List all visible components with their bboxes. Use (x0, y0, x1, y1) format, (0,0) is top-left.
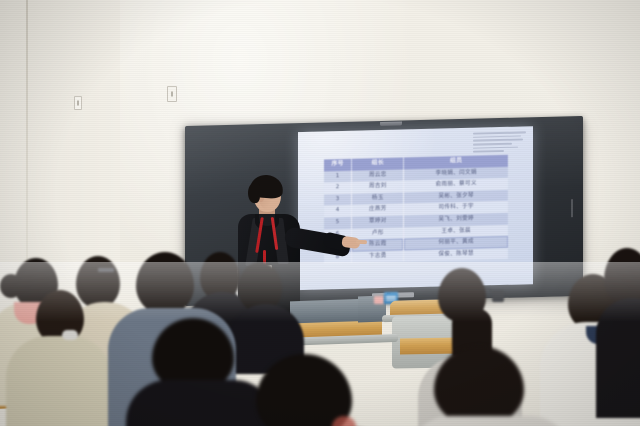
torso (126, 380, 276, 426)
head (136, 252, 194, 314)
torso (6, 336, 112, 426)
head (434, 346, 524, 426)
desk-top-right-2 (400, 337, 460, 354)
torso (596, 298, 640, 418)
classroom-photo: 序号 组长 组员 1周云忠李晓娟、闫文娟2周吉刘俞雨丽、蔡可义3杨玉吴彬、张夕琴… (0, 0, 640, 426)
wall-switch-b (167, 86, 177, 102)
camera-icon (380, 122, 402, 127)
wall-corner-seam (26, 0, 28, 300)
teacher-hair-side (248, 183, 260, 203)
pointing-finger (356, 240, 367, 245)
cell-members: 保俊、陈琴慧 (404, 248, 508, 262)
face-mask (62, 330, 78, 340)
hair-bun (0, 274, 22, 298)
pink-object (374, 296, 384, 304)
wall-socket-box (492, 290, 504, 302)
head (76, 256, 120, 308)
board-side-marker (571, 199, 573, 217)
wall-switch-a (74, 96, 82, 110)
hair-clip-icon (98, 268, 114, 272)
